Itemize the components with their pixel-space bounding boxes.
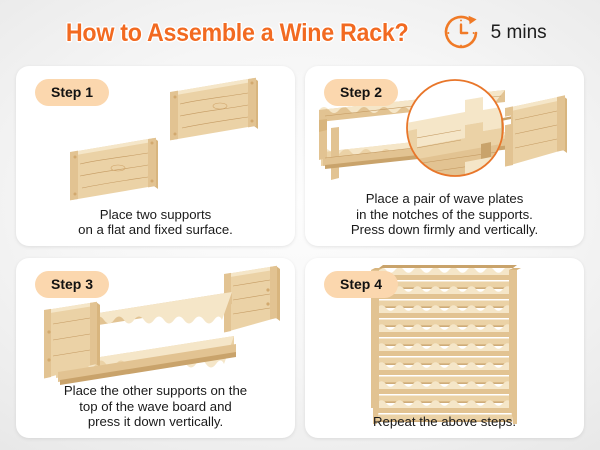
caption-line: Repeat the above steps. bbox=[311, 414, 578, 430]
time-label: 5 mins bbox=[491, 22, 547, 44]
caption-line: press it down vertically. bbox=[22, 414, 289, 430]
steps-grid: Step 1 bbox=[16, 66, 584, 438]
page-title: How to Assemble a Wine Rack? bbox=[66, 19, 409, 48]
step-caption-4: Repeat the above steps. bbox=[311, 414, 578, 430]
step-caption-1: Place two supports on a flat and fixed s… bbox=[22, 207, 289, 238]
caption-line: Press down firmly and vertically. bbox=[311, 222, 578, 238]
step-badge-3: Step 3 bbox=[35, 271, 109, 298]
caption-line: top of the wave board and bbox=[22, 399, 289, 415]
caption-line: Place the other supports on the bbox=[22, 383, 289, 399]
step-caption-2: Place a pair of wave plates in the notch… bbox=[311, 191, 578, 238]
step-card-1: Step 1 bbox=[16, 66, 295, 246]
step-card-2: Step 2 bbox=[305, 66, 584, 246]
step-card-4: Step 4 bbox=[305, 258, 584, 438]
caption-line: Place two supports bbox=[22, 207, 289, 223]
time-estimate: 5 mins bbox=[440, 12, 547, 54]
step-caption-3: Place the other supports on the top of t… bbox=[22, 383, 289, 430]
step-badge-1: Step 1 bbox=[35, 79, 109, 106]
caption-line: in the notches of the supports. bbox=[311, 207, 578, 223]
clock-arrow-icon bbox=[440, 12, 482, 54]
infographic-poster: How to Assemble a Wine Rack? 5 mins bbox=[0, 0, 600, 450]
caption-line: on a flat and fixed surface. bbox=[22, 222, 289, 238]
caption-line: Place a pair of wave plates bbox=[311, 191, 578, 207]
step-badge-2: Step 2 bbox=[324, 79, 398, 106]
step-badge-4: Step 4 bbox=[324, 271, 398, 298]
header: How to Assemble a Wine Rack? 5 mins bbox=[0, 0, 600, 66]
step-card-3: Step 3 bbox=[16, 258, 295, 438]
